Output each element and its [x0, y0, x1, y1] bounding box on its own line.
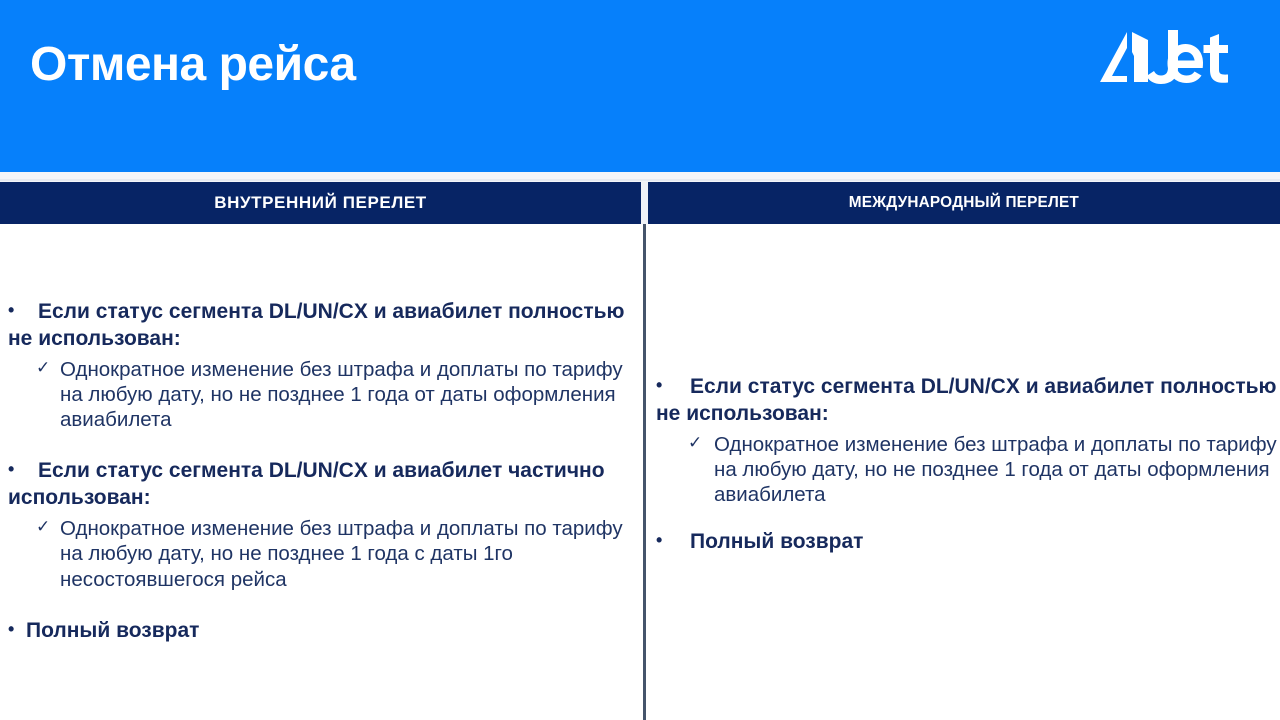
- page-banner: Отмена рейса: [0, 0, 1280, 172]
- bullet-heading-text: Полный возврат: [690, 530, 863, 553]
- column-header-international-label: МЕЖДУНАРОДНЫЙ ПЕРЕЛЕТ: [849, 194, 1079, 212]
- bullet-heading-text: Если статус сегмента DL/UN/CX и авиабиле…: [8, 300, 624, 350]
- spacer: [8, 592, 644, 618]
- international-content-stack: •Если статус сегмента DL/UN/CX и авиабил…: [656, 374, 1280, 556]
- sub-list-item-text: Однократное изменение без штрафа и допла…: [60, 357, 644, 433]
- header-cell-gap: [641, 182, 648, 224]
- spacer: [656, 507, 1280, 529]
- sub-list-item-text: Однократное изменение без штрафа и допла…: [714, 432, 1280, 508]
- list-item: •Если статус сегмента DL/UN/CX и авиабил…: [8, 458, 644, 591]
- slide-root: Отмена рейса ВНУТРЕННИЙ ПЕРЕЛЕТ МЕЖДУНАР…: [0, 0, 1280, 720]
- bullet-dot-icon: •: [656, 374, 690, 397]
- column-header-international: МЕЖДУНАРОДНЫЙ ПЕРЕЛЕТ: [648, 182, 1280, 224]
- sub-list-item: ✓ Однократное изменение без штрафа и доп…: [656, 432, 1280, 508]
- column-body-domestic: •Если статус сегмента DL/UN/CX и авиабил…: [0, 224, 641, 720]
- bullet-heading: •Полный возврат: [656, 529, 1280, 556]
- bullet-heading-text: Полный возврат: [26, 619, 199, 642]
- checkmark-icon: ✓: [36, 358, 50, 379]
- column-body-international: •Если статус сегмента DL/UN/CX и авиабил…: [650, 224, 1280, 720]
- sub-list-item-text: Однократное изменение без штрафа и допла…: [60, 516, 644, 592]
- list-item: •Если статус сегмента DL/UN/CX и авиабил…: [656, 374, 1280, 507]
- list-item: •Полный возврат: [656, 529, 1280, 556]
- checkmark-icon: ✓: [688, 433, 702, 454]
- spacer: [8, 432, 644, 458]
- sub-list-item: ✓ Однократное изменение без штрафа и доп…: [8, 516, 644, 592]
- bullet-heading: •Если статус сегмента DL/UN/CX и авиабил…: [8, 458, 644, 512]
- bullet-dot-icon: •: [8, 458, 38, 481]
- bullet-dot-icon: •: [8, 618, 26, 641]
- list-item: •Полный возврат: [8, 618, 644, 645]
- column-header-domestic-label: ВНУТРЕННИЙ ПЕРЕЛЕТ: [214, 193, 427, 213]
- list-item: •Если статус сегмента DL/UN/CX и авиабил…: [8, 299, 644, 432]
- banner-divider-line: [0, 179, 1280, 181]
- column-header-domestic: ВНУТРЕННИЙ ПЕРЕЛЕТ: [0, 182, 641, 224]
- checkmark-icon: ✓: [36, 517, 50, 538]
- bullet-heading: •Если статус сегмента DL/UN/CX и авиабил…: [8, 299, 644, 353]
- bullet-heading-text: Если статус сегмента DL/UN/CX и авиабиле…: [656, 375, 1276, 425]
- table-header-row: ВНУТРЕННИЙ ПЕРЕЛЕТ МЕЖДУНАРОДНЫЙ ПЕРЕЛЕТ: [0, 182, 1280, 224]
- bullet-heading: •Если статус сегмента DL/UN/CX и авиабил…: [656, 374, 1280, 428]
- sub-list-item: ✓ Однократное изменение без штрафа и доп…: [8, 357, 644, 433]
- ajet-logo: [1072, 22, 1252, 92]
- bullet-dot-icon: •: [656, 529, 690, 552]
- bullet-dot-icon: •: [8, 299, 38, 322]
- domestic-content-stack: •Если статус сегмента DL/UN/CX и авиабил…: [8, 299, 644, 645]
- bullet-heading: •Полный возврат: [8, 618, 644, 645]
- bullet-heading-text: Если статус сегмента DL/UN/CX и авиабиле…: [8, 459, 605, 509]
- page-title: Отмена рейса: [30, 37, 356, 92]
